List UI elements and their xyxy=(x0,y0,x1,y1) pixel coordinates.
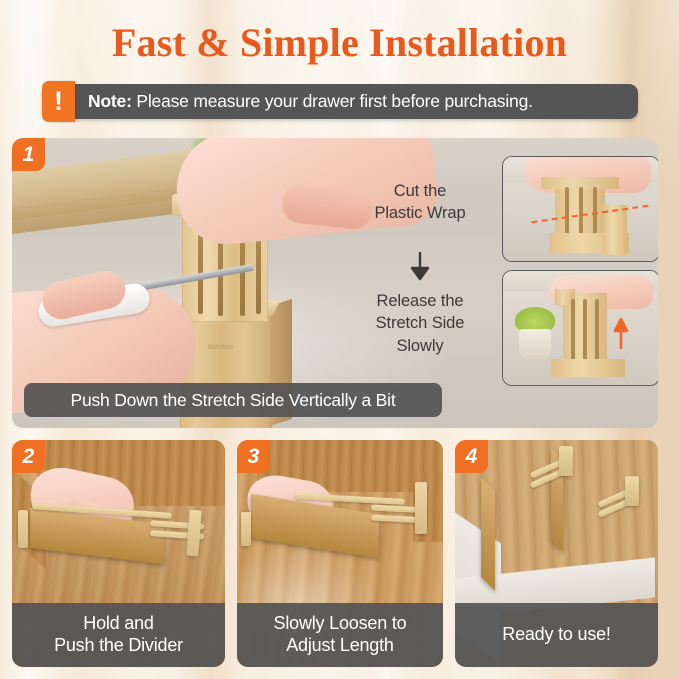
step-number-badge: 1 xyxy=(12,138,45,171)
cut-plastic-wrap-thumbnail xyxy=(502,156,658,262)
step-2-caption: Hold and Push the Divider xyxy=(12,603,225,667)
up-arrow-icon xyxy=(613,315,629,351)
page-title: Fast & Simple Installation xyxy=(0,22,679,64)
release-stretch-side-label: Release the Stretch Side Slowly xyxy=(346,290,494,357)
note-label: Note: xyxy=(88,91,132,111)
down-arrow-icon xyxy=(402,250,438,284)
step-3-panel: 3 Slowly Loosen to Adjust Length xyxy=(237,440,443,667)
exclamation-icon: ! xyxy=(42,81,75,122)
step-4-panel: 4 Ready to use! xyxy=(455,440,658,667)
step-number-badge: 2 xyxy=(12,440,45,473)
step-1-caption: Push Down the Stretch Side Vertically a … xyxy=(24,383,442,417)
step-number-badge: 3 xyxy=(237,440,270,473)
step-3-caption: Slowly Loosen to Adjust Length xyxy=(237,603,443,667)
note-banner-text: Note: Please measure your drawer first b… xyxy=(88,91,533,112)
step-4-caption: Ready to use! xyxy=(455,603,658,667)
note-body: Please measure your drawer first before … xyxy=(132,91,533,111)
note-banner: ! Note: Please measure your drawer first… xyxy=(42,84,638,119)
release-stretch-side-thumbnail xyxy=(502,270,658,386)
cut-plastic-wrap-label: Cut the Plastic Wrap xyxy=(350,180,490,225)
step-1-panel: bamboo made 1 Cut the Plastic Wrap Relea… xyxy=(12,138,658,428)
step-2-panel: 2 Hold and Push the Divider xyxy=(12,440,225,667)
step-number-badge: 4 xyxy=(455,440,488,473)
installation-infographic: Fast & Simple Installation ! Note: Pleas… xyxy=(0,0,679,679)
